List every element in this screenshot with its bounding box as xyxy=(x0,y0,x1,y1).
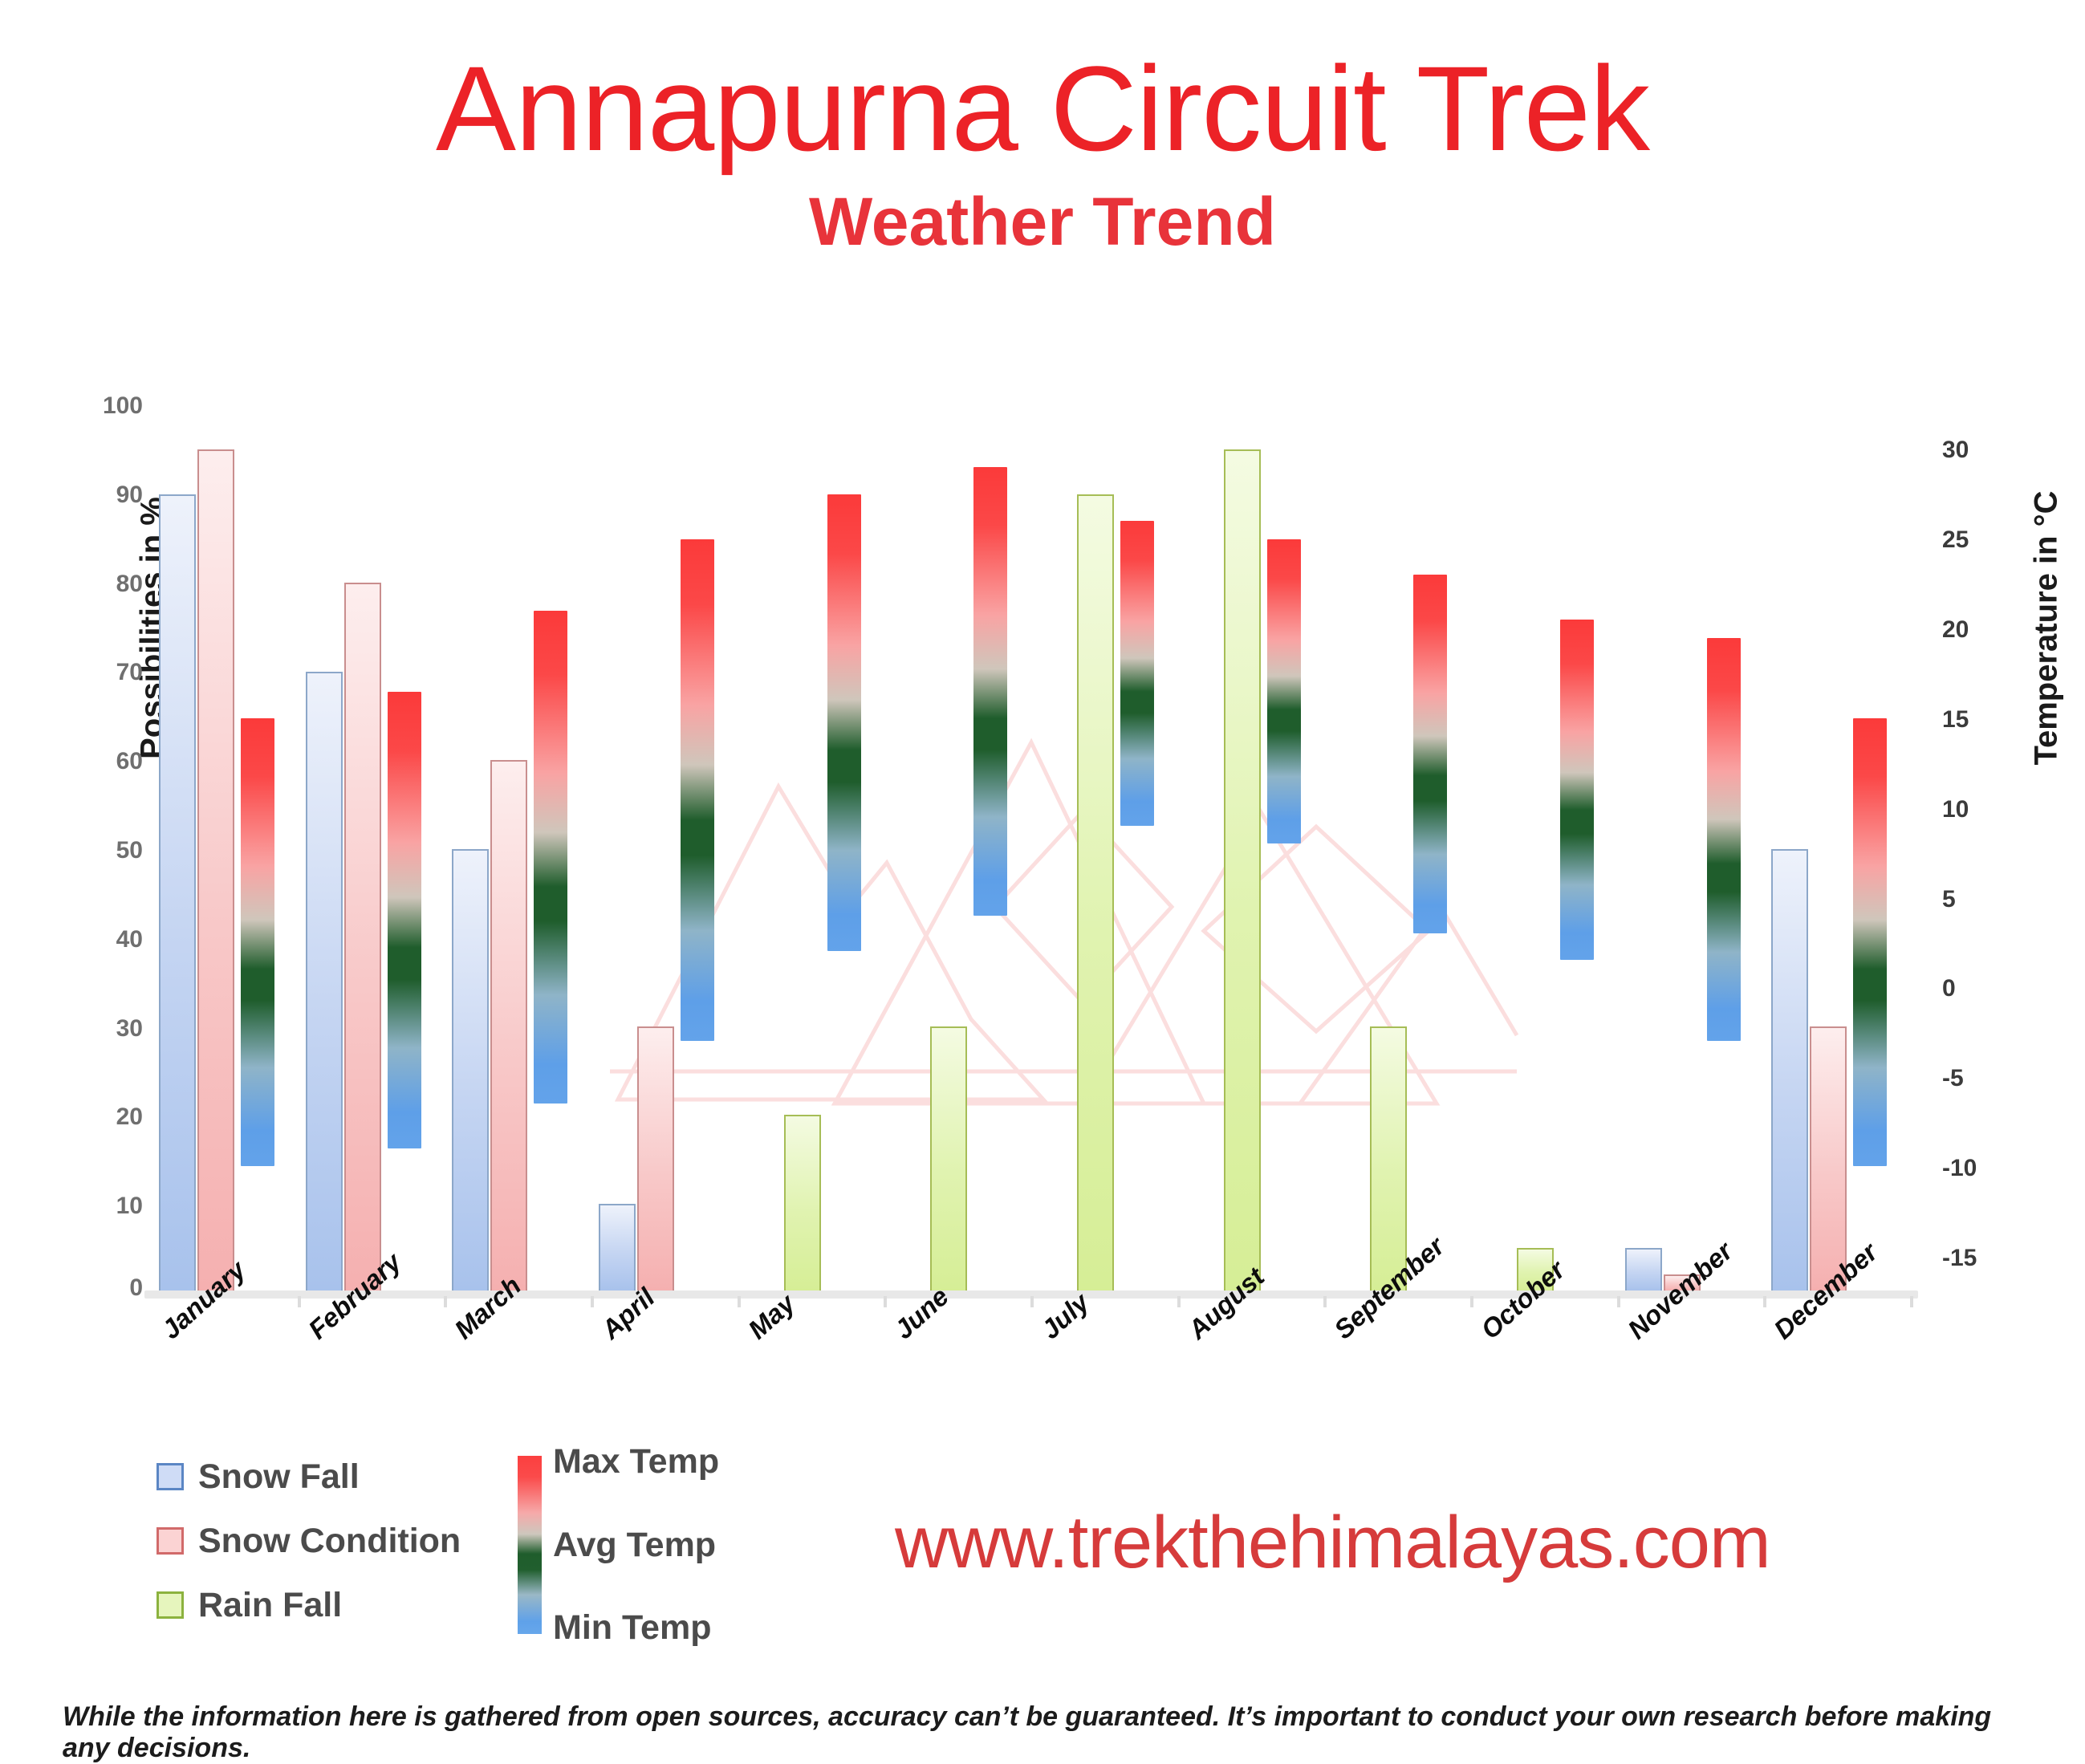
temperature-gradient-icon xyxy=(518,1456,542,1634)
y-tick-right-20: 20 xyxy=(1942,616,2030,644)
x-tick xyxy=(1323,1296,1327,1307)
bar-temperature-october xyxy=(1560,620,1594,960)
y-tick-left-80: 80 xyxy=(71,571,143,598)
bar-rain-fall-june xyxy=(930,1026,967,1293)
bar-snow-condition-december xyxy=(1810,1026,1847,1293)
site-url[interactable]: www.trekthehimalayas.com xyxy=(895,1501,1770,1585)
y-tick-left-0: 0 xyxy=(71,1274,143,1302)
bar-temperature-november xyxy=(1707,638,1741,1042)
y-tick-right-25: 25 xyxy=(1942,526,2030,554)
x-tick xyxy=(1910,1296,1913,1307)
y-tick-left-100: 100 xyxy=(71,392,143,420)
y-tick-left-30: 30 xyxy=(71,1015,143,1043)
legend-label-min-temp: Min Temp xyxy=(553,1611,719,1645)
y-tick-right-m15: -15 xyxy=(1942,1245,2030,1272)
legend-label-snow-fall: Snow Fall xyxy=(198,1457,360,1497)
legend-label-avg-temp: Avg Temp xyxy=(553,1528,719,1563)
snow-condition-swatch-icon xyxy=(156,1527,184,1555)
x-tick xyxy=(1763,1296,1766,1307)
bar-snow-fall-november xyxy=(1625,1248,1662,1292)
bar-snow-condition-march xyxy=(490,760,527,1292)
y-tick-right-10: 10 xyxy=(1942,796,2030,823)
bar-snow-fall-march xyxy=(452,849,489,1293)
y-tick-left-90: 90 xyxy=(71,482,143,509)
x-tick xyxy=(444,1296,447,1307)
y-tick-left-10: 10 xyxy=(71,1193,143,1220)
x-tick xyxy=(591,1296,594,1307)
legend-label-rain-fall: Rain Fall xyxy=(198,1586,342,1625)
y-tick-left-40: 40 xyxy=(71,926,143,953)
y-tick-right-0: 0 xyxy=(1942,975,2030,1002)
x-tick xyxy=(1617,1296,1620,1307)
bar-temperature-june xyxy=(973,467,1007,915)
bar-temperature-august xyxy=(1267,539,1301,844)
bar-temperature-december xyxy=(1853,718,1887,1166)
rain-fall-swatch-icon xyxy=(156,1591,184,1619)
bar-rain-fall-september xyxy=(1370,1026,1407,1293)
x-tick xyxy=(1177,1296,1181,1307)
x-tick xyxy=(298,1296,301,1307)
bar-snow-condition-january xyxy=(197,449,234,1292)
bar-rain-fall-july xyxy=(1077,494,1114,1293)
bar-temperature-september xyxy=(1413,575,1447,933)
bar-snow-fall-january xyxy=(159,494,196,1293)
bar-snow-fall-december xyxy=(1771,849,1808,1293)
y-tick-left-70: 70 xyxy=(71,659,143,686)
y-axis-right-title: Temperature in °C xyxy=(2029,460,2065,797)
bar-snow-condition-february xyxy=(344,583,381,1292)
disclaimer-note: While the information here is gathered f… xyxy=(63,1701,2037,1764)
y-tick-right-30: 30 xyxy=(1942,437,2030,464)
legend-label-max-temp: Max Temp xyxy=(553,1445,719,1479)
bar-temperature-april xyxy=(681,539,714,1041)
bar-temperature-july xyxy=(1120,521,1154,826)
bar-snow-fall-april xyxy=(599,1204,636,1293)
y-tick-right-5: 5 xyxy=(1942,886,2030,913)
y-tick-right-m10: -10 xyxy=(1942,1155,2030,1182)
y-tick-right-m5: -5 xyxy=(1942,1065,2030,1092)
y-tick-left-60: 60 xyxy=(71,748,143,775)
x-tick xyxy=(884,1296,887,1307)
y-tick-left-20: 20 xyxy=(71,1104,143,1131)
x-tick xyxy=(1470,1296,1473,1307)
legend-label-snow-condition: Snow Condition xyxy=(198,1522,461,1561)
bar-temperature-february xyxy=(388,692,421,1149)
x-tick xyxy=(738,1296,741,1307)
legend-temperature: Max Temp Avg Temp Min Temp xyxy=(518,1445,855,1645)
bar-snow-fall-february xyxy=(306,672,343,1293)
bar-snow-condition-april xyxy=(637,1026,674,1293)
bar-temperature-march xyxy=(534,611,567,1104)
bar-temperature-may xyxy=(827,494,861,952)
y-tick-left-50: 50 xyxy=(71,837,143,864)
snow-fall-swatch-icon xyxy=(156,1463,184,1490)
bar-rain-fall-may xyxy=(784,1115,821,1292)
x-tick xyxy=(1030,1296,1034,1307)
y-tick-right-15: 15 xyxy=(1942,706,2030,734)
bar-rain-fall-august xyxy=(1224,449,1261,1292)
bar-temperature-january xyxy=(241,718,274,1166)
